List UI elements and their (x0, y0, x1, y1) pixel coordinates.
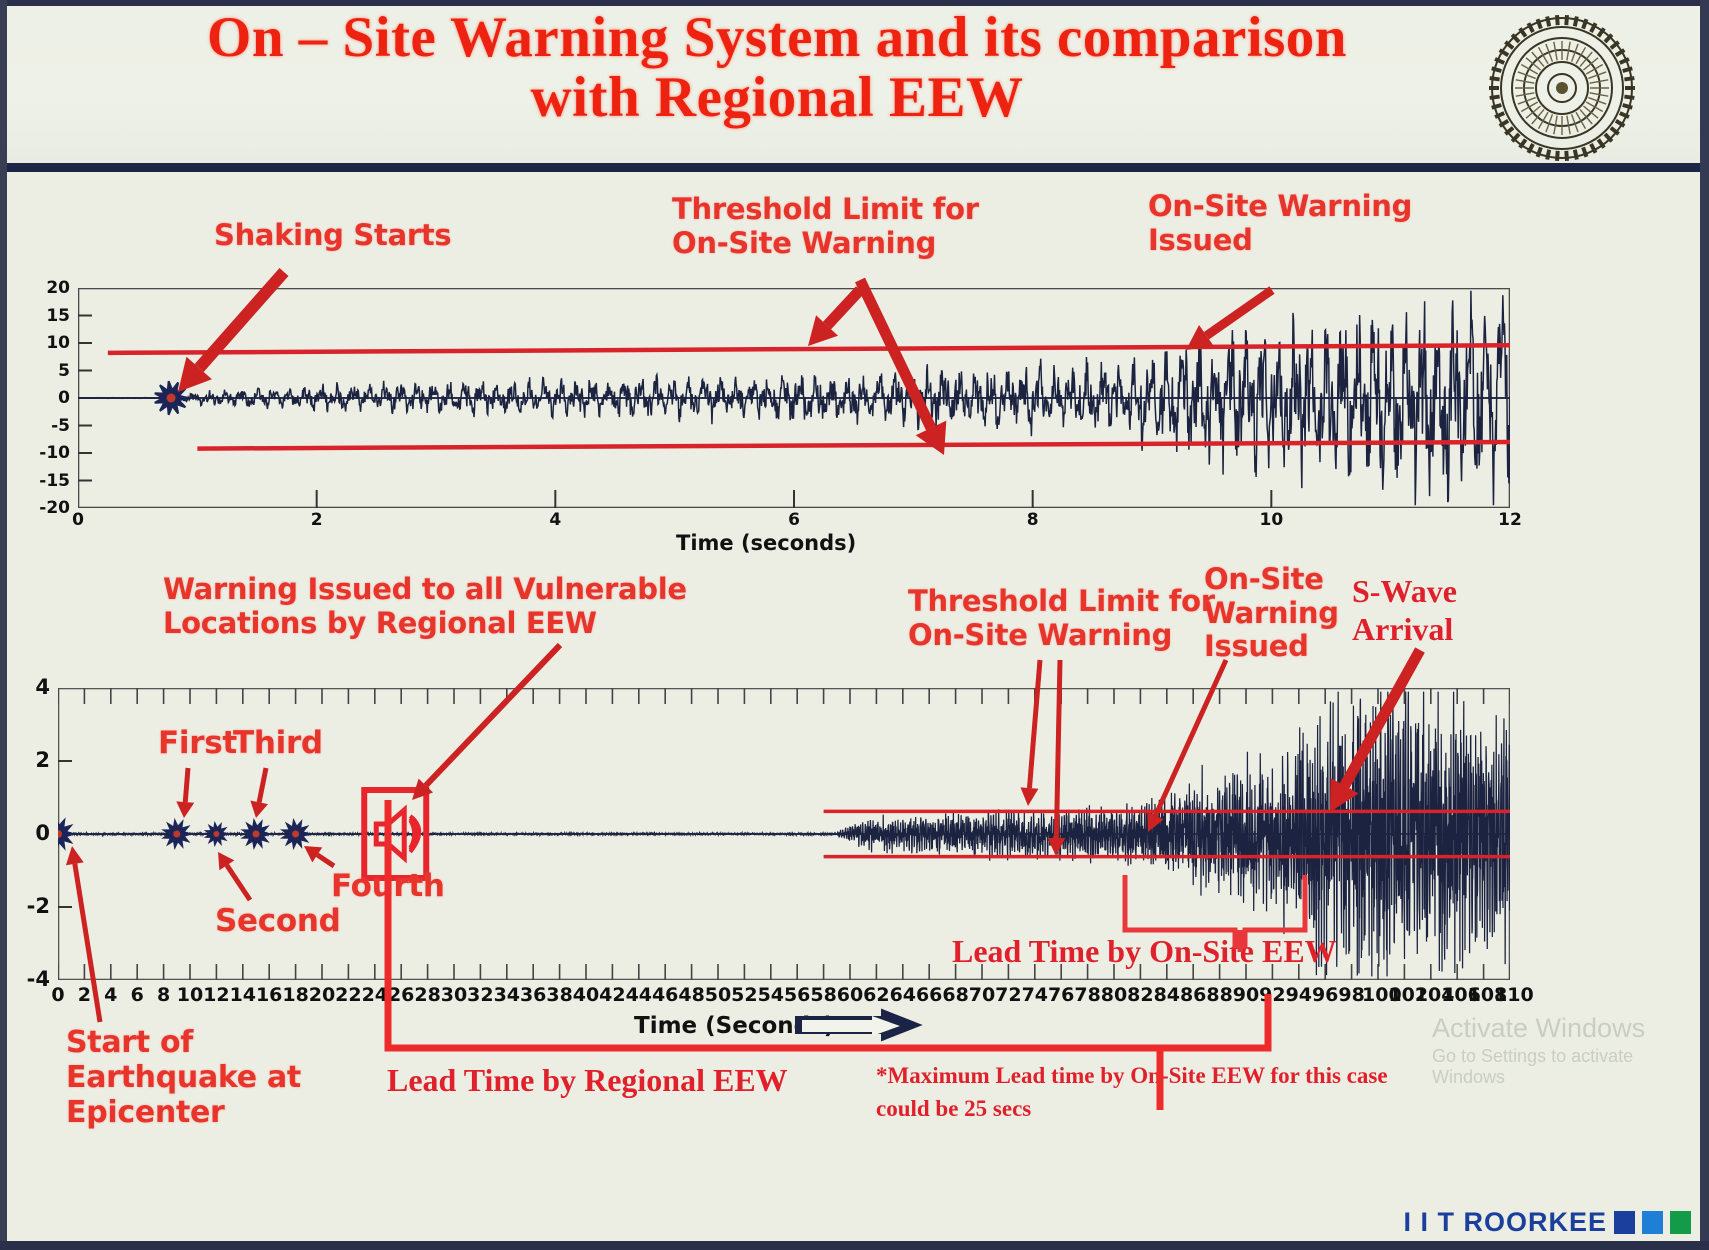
top-chart-x-axis-label: Time (seconds) (676, 531, 856, 555)
top-chart-x-tick: 10 (1249, 510, 1293, 530)
top-chart-annotation-arrows (0, 180, 1709, 480)
iit-roorkee-brand: I I T ROORKEE (1403, 1207, 1691, 1238)
top-chart-x-tick: 8 (1011, 510, 1055, 530)
brand-square-blue (1642, 1211, 1663, 1234)
slide-root: On – Site Warning System and its compari… (0, 0, 1709, 1250)
top-chart-x-tick: 2 (295, 510, 339, 530)
brand-square-green (1670, 1211, 1691, 1234)
brand-square-navy (1614, 1211, 1635, 1234)
top-chart-x-tick: 4 (533, 510, 577, 530)
title-band: On – Site Warning System and its compari… (7, 6, 1700, 172)
top-chart-x-tick: 6 (772, 510, 816, 530)
page-title: On – Site Warning System and its compari… (187, 8, 1367, 128)
top-chart-x-tick: 12 (1488, 510, 1532, 530)
top-chart-x-tick: 0 (56, 510, 100, 530)
windows-activation-watermark-line2: Go to Settings to activate Windows (1432, 1046, 1709, 1088)
windows-activation-watermark-line1: Activate Windows (1432, 1013, 1645, 1044)
slide-edge-bottom (0, 1241, 1709, 1250)
brand-label: I I T ROORKEE (1403, 1207, 1607, 1238)
iit-roorkee-emblem-icon (1486, 12, 1638, 164)
